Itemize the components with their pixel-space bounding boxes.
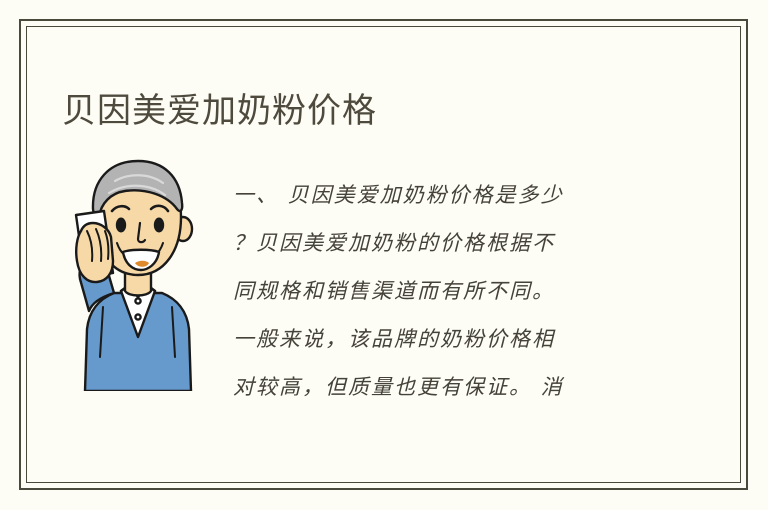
body-line: 对较高，但质量也更有保证。 消 [233, 363, 663, 411]
article-body-text: 一、 贝因美爱加奶粉价格是多少 ？贝因美爱加奶粉的价格根据不 同规格和销售渠道而… [233, 171, 663, 411]
article-card: 贝因美爱加奶粉价格 [19, 19, 748, 490]
body-line: 一般来说，该品牌的奶粉价格相 [233, 315, 663, 363]
body-line: 同规格和销售渠道而有所不同。 [233, 267, 663, 315]
article-content-row: 一、 贝因美爱加奶粉价格是多少 ？贝因美爱加奶粉的价格根据不 同规格和销售渠道而… [21, 133, 746, 485]
body-line: 一、 贝因美爱加奶粉价格是多少 [233, 171, 663, 219]
hand-shape [76, 223, 113, 282]
page-title: 贝因美爱加奶粉价格 [62, 89, 377, 133]
body-line: ？贝因美爱加奶粉的价格根据不 [233, 219, 663, 267]
elderly-man-on-phone-illustration [59, 151, 214, 391]
